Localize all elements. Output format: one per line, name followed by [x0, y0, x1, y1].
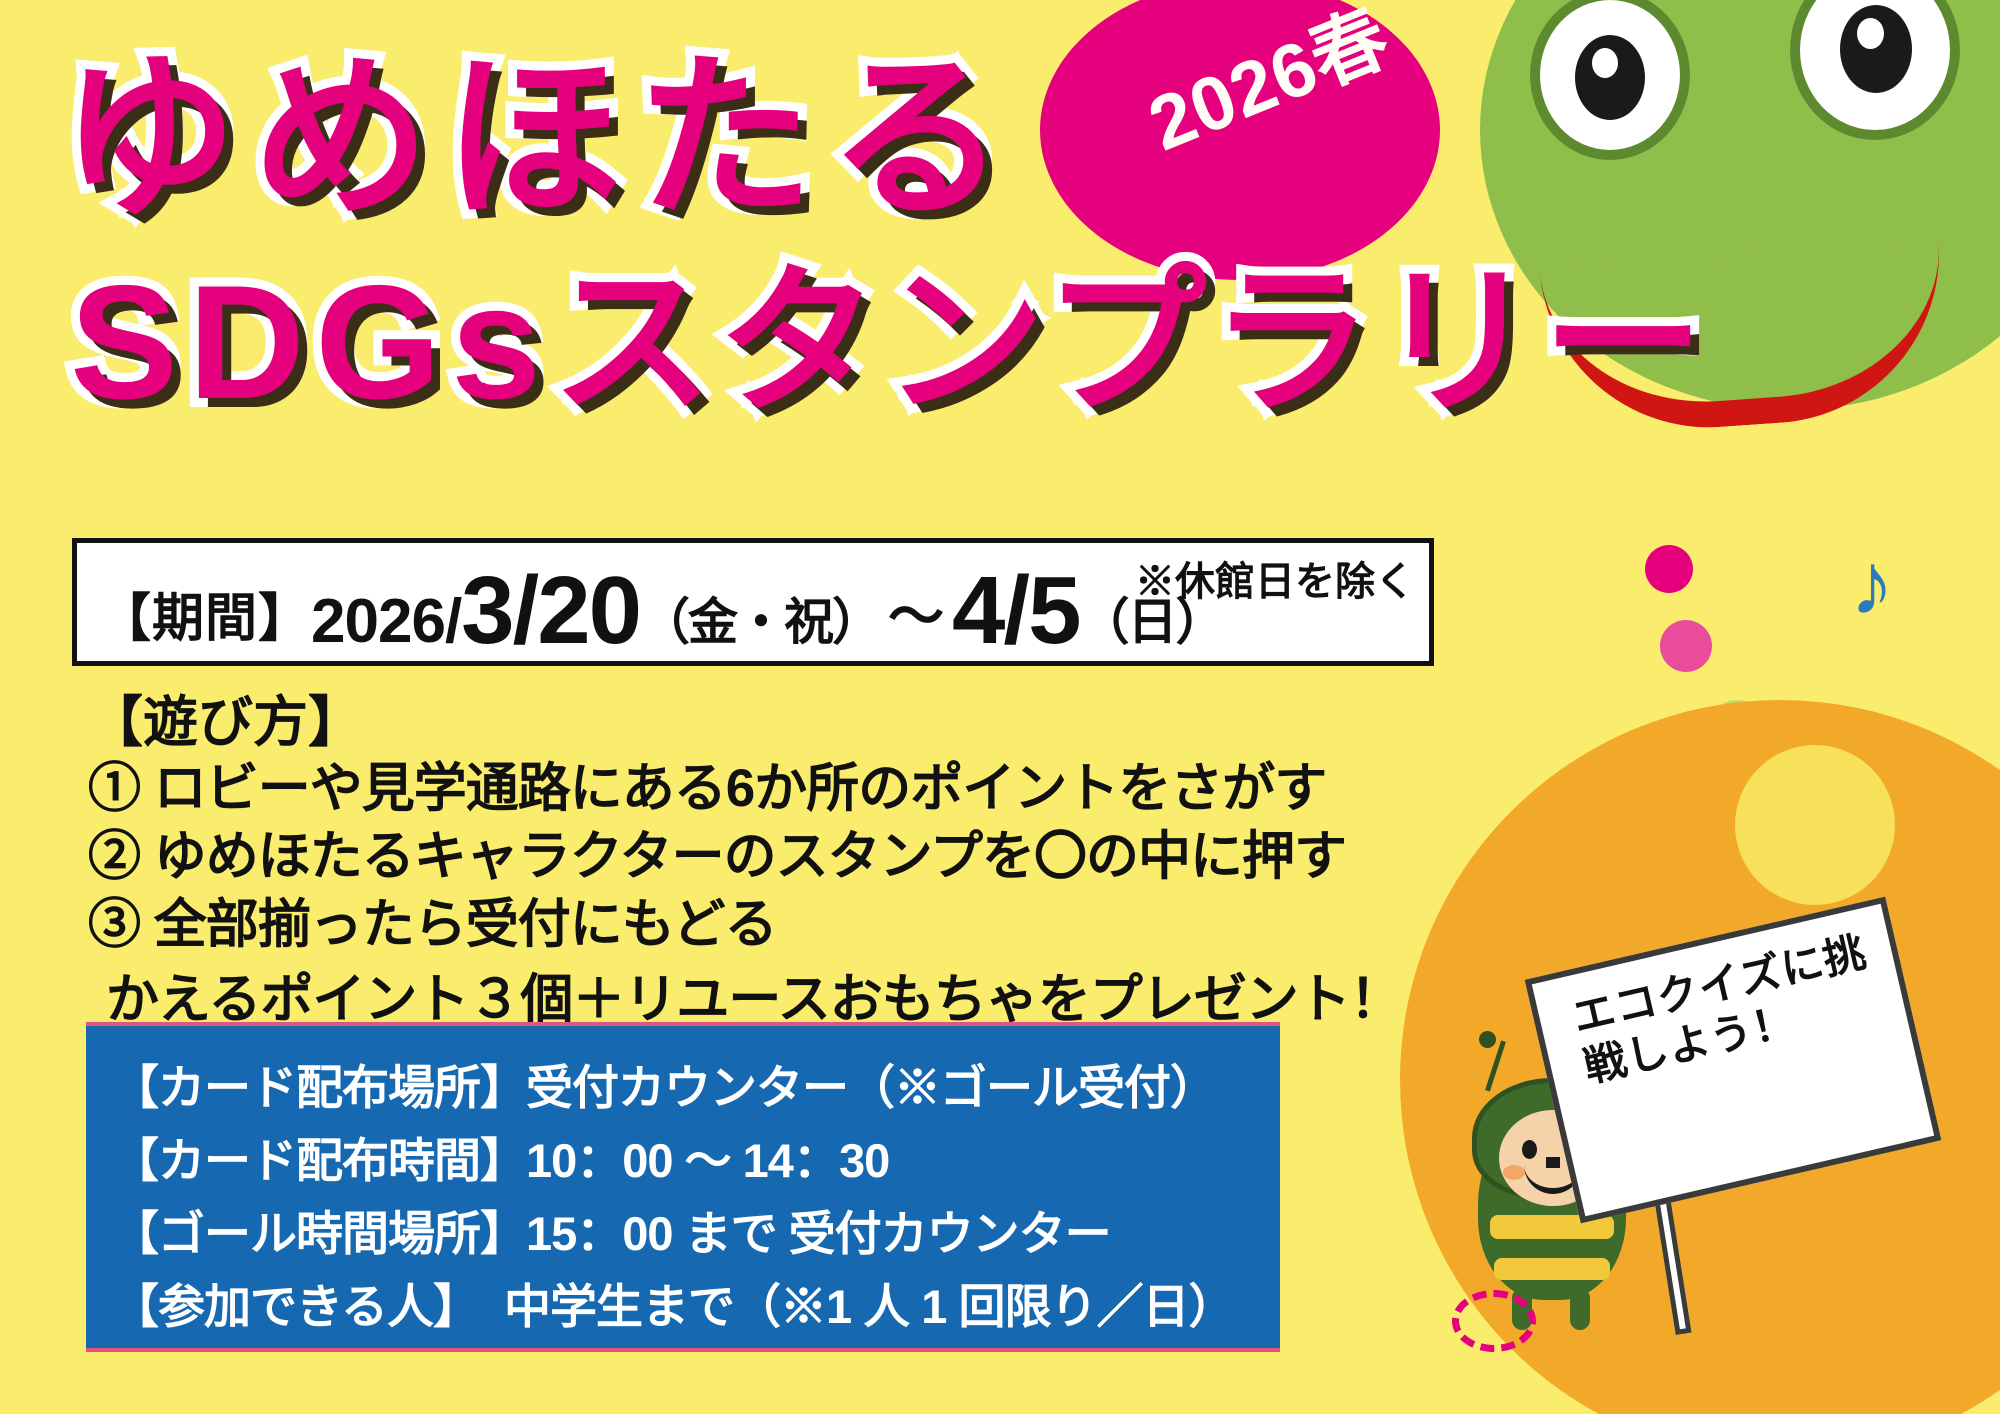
mascot-nose	[1546, 1157, 1560, 1168]
frog-pupil-left	[1575, 35, 1645, 120]
period-range-mark: ～	[880, 589, 952, 657]
yellow-circle-shape	[1735, 745, 1895, 905]
info-label: 【カード配布場所】	[112, 1052, 526, 1125]
title-line-2: SDGsスタンプラリー	[70, 258, 1180, 428]
title-stamprally: スタンプラリー	[551, 252, 1708, 433]
info-label: 【参加できる人】	[112, 1271, 504, 1344]
howto-step-1: ① ロビーや見学通路にある6か所のポイントをさがす	[88, 755, 1368, 823]
info-value: 受付カウンター（※ゴール受付）	[526, 1052, 1216, 1125]
title-sdgs: SDGs	[70, 252, 551, 433]
page-title: ゆめほたる SDGsスタンプラリー	[60, 50, 1180, 428]
howto-step-3: ③ 全部揃ったら受付にもどる	[88, 891, 1368, 959]
period-closed-note: ※休館日を除く	[1135, 549, 1415, 607]
pink-dot-2	[1660, 620, 1712, 672]
info-row: 【ゴール時間場所】 15：00 まで 受付カウンター	[112, 1198, 1280, 1271]
info-value: 15：00 まで 受付カウンター	[526, 1198, 1111, 1271]
mascot-glow-ring	[1452, 1290, 1536, 1352]
frog-pupil-right	[1840, 5, 1912, 93]
frog-eye-glint-left	[1592, 48, 1618, 78]
title-line-1: ゆめほたる	[60, 50, 1180, 228]
mascot-antenna-ball-left	[1479, 1031, 1496, 1048]
frog-eye-glint-right	[1857, 18, 1884, 49]
howto-heading: 【遊び方】	[88, 690, 1368, 755]
pink-dot-1	[1645, 545, 1693, 593]
period-label: 【期間】	[99, 593, 311, 657]
poster-canvas: ♪ エコクイズに挑戦しよう！ 2026春 ゆめほたる SDGsスタンプラリー 【…	[0, 0, 2000, 1414]
info-label: 【カード配布時間】	[112, 1125, 526, 1198]
period-end-date: 4/5	[952, 565, 1079, 657]
howto-step-2: ② ゆめほたるキャラクターのスタンプを〇の中に押す	[88, 823, 1368, 891]
howto-section: 【遊び方】 ① ロビーや見学通路にある6か所のポイントをさがす ② ゆめほたるキ…	[88, 690, 1368, 1035]
info-value: 中学生まで（※1 人 1 回限り／日）	[504, 1271, 1234, 1344]
info-value: 10：00 ～ 14：30	[526, 1125, 889, 1198]
period-box: 【期間】 2026/ 3/20 （金・祝） ～ 4/5 （日） ※休館日を除く	[72, 538, 1434, 666]
info-row: 【カード配布時間】 10：00 ～ 14：30	[112, 1125, 1280, 1198]
period-year: 2026/	[311, 591, 461, 657]
mascot-stripe-2	[1494, 1258, 1610, 1280]
music-note-icon: ♪	[1850, 540, 1894, 628]
info-row: 【参加できる人】 中学生まで（※1 人 1 回限り／日）	[112, 1271, 1280, 1344]
mascot-leg-right	[1570, 1288, 1590, 1330]
period-start-date: 3/20	[461, 565, 640, 657]
info-row: 【カード配布場所】 受付カウンター（※ゴール受付）	[112, 1052, 1280, 1125]
period-start-weekday: （金・祝）	[640, 597, 880, 657]
info-label: 【ゴール時間場所】	[112, 1198, 526, 1271]
mascot-eye-left	[1522, 1140, 1537, 1159]
info-box: 【カード配布場所】 受付カウンター（※ゴール受付） 【カード配布時間】 10：0…	[86, 1022, 1280, 1352]
mascot-cheek-left	[1503, 1165, 1525, 1180]
